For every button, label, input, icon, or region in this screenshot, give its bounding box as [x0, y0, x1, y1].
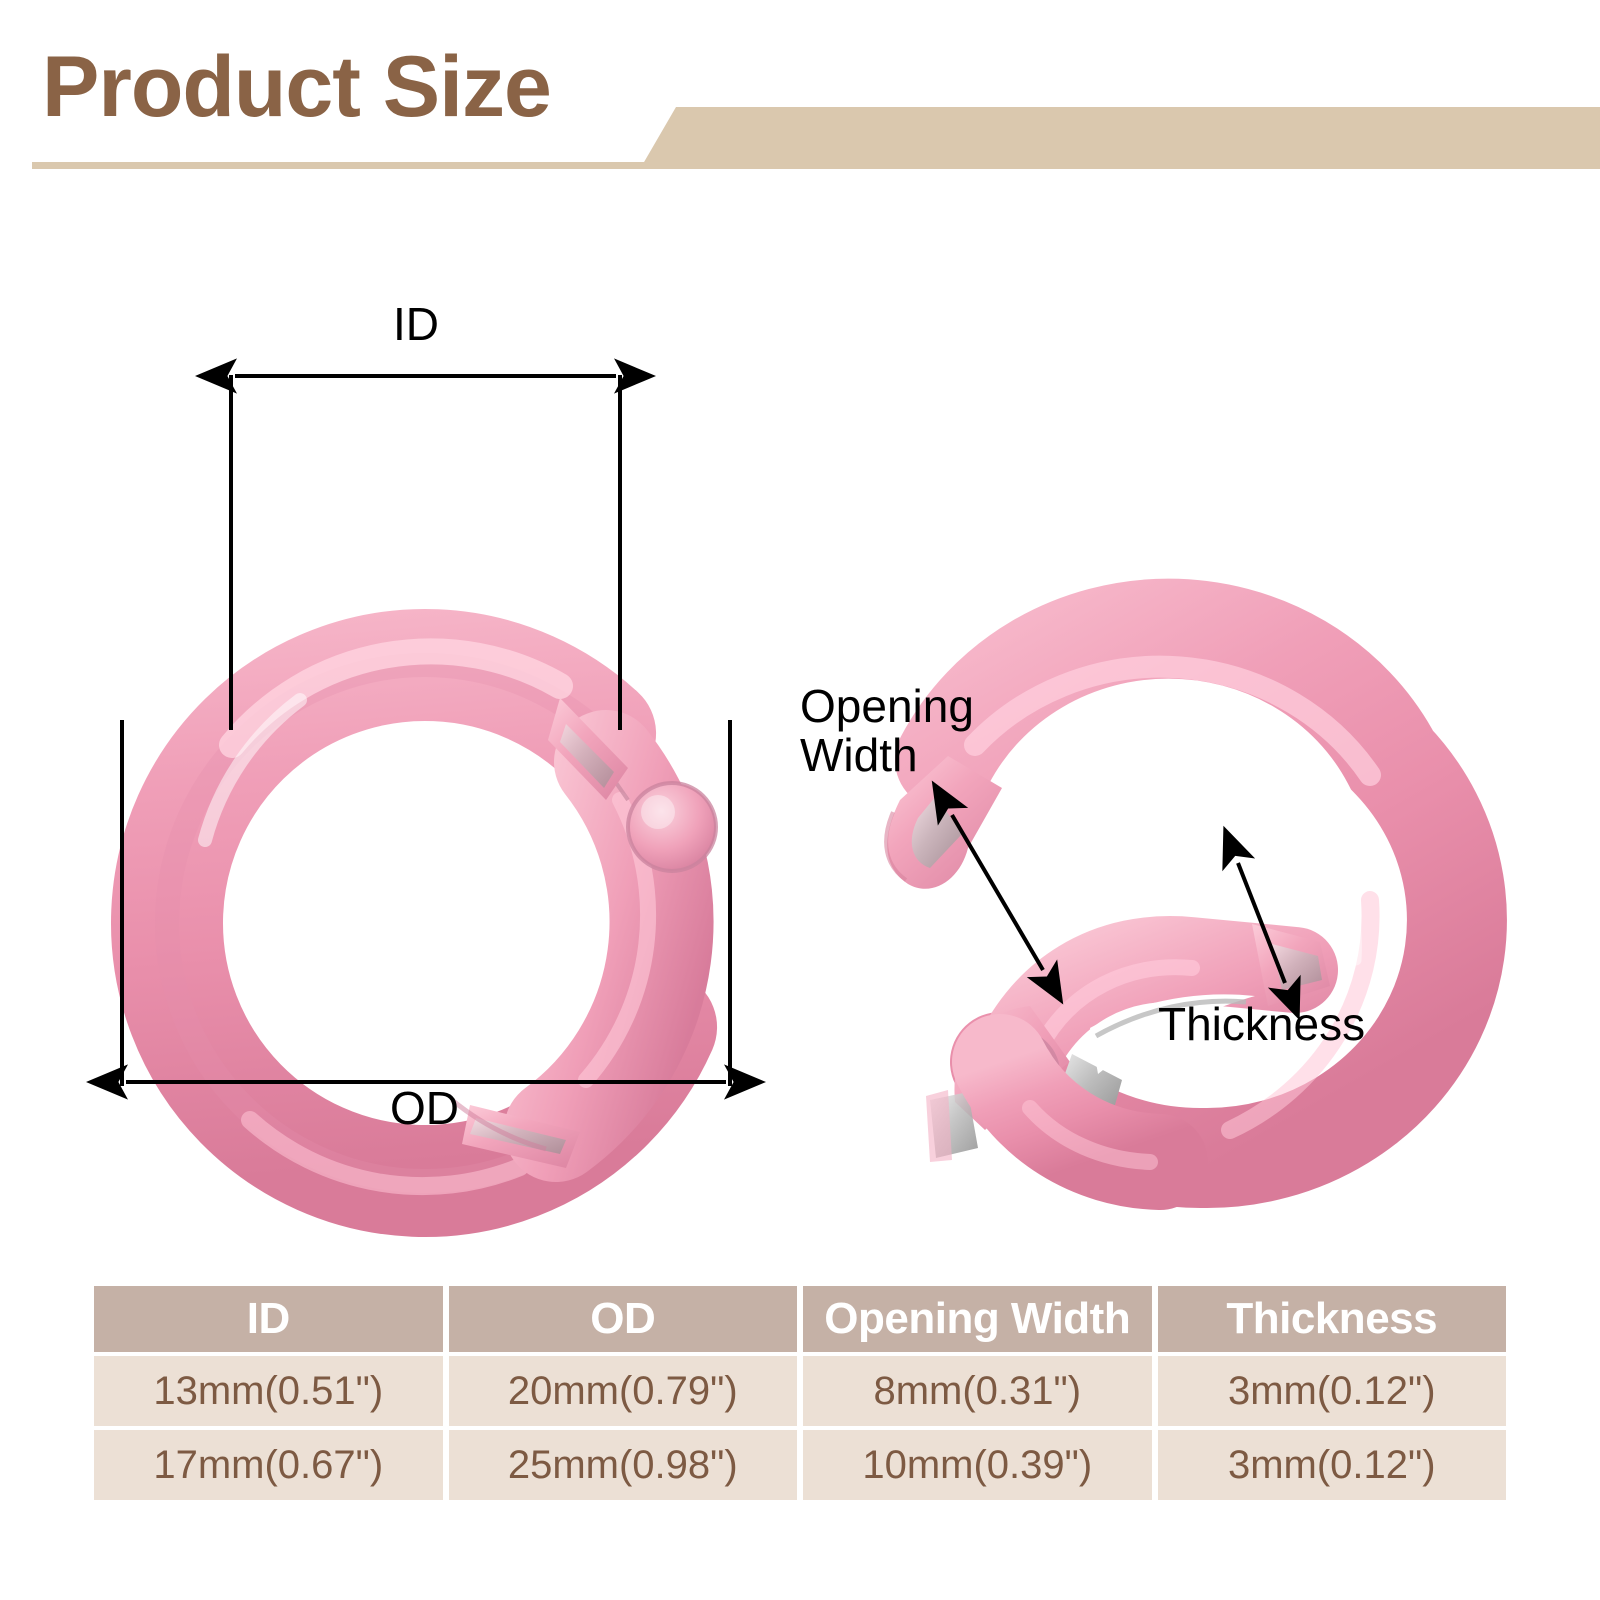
cell-opening-width: 8mm(0.31"): [803, 1356, 1152, 1426]
column-header-od: OD: [449, 1286, 798, 1352]
page-title: Product Size: [42, 44, 551, 130]
opening-width-label: Opening Width: [800, 682, 974, 780]
cell-od: 25mm(0.98"): [449, 1430, 798, 1500]
cell-opening-width: 10mm(0.39"): [803, 1430, 1152, 1500]
thickness-label: Thickness: [1158, 1000, 1365, 1049]
cell-thickness: 3mm(0.12"): [1158, 1356, 1507, 1426]
cell-thickness: 3mm(0.12"): [1158, 1430, 1507, 1500]
page-header: Product Size: [0, 0, 1600, 200]
header-banner-accent: [640, 107, 1600, 169]
table-header-row: ID OD Opening Width Thickness: [94, 1286, 1506, 1352]
table-row: 13mm(0.51") 20mm(0.79") 8mm(0.31") 3mm(0…: [94, 1356, 1506, 1426]
column-header-thickness: Thickness: [1158, 1286, 1507, 1352]
column-header-opening-width: Opening Width: [803, 1286, 1152, 1352]
cell-od: 20mm(0.79"): [449, 1356, 798, 1426]
od-label: OD: [390, 1084, 459, 1133]
cell-id: 13mm(0.51"): [94, 1356, 443, 1426]
cell-id: 17mm(0.67"): [94, 1430, 443, 1500]
opening-width-annotation: [952, 815, 1043, 970]
header-underline-rule: [32, 162, 692, 169]
column-header-id: ID: [94, 1286, 443, 1352]
id-label: ID: [393, 300, 439, 349]
product-diagram-area: ID OD Opening Width Thickness: [0, 200, 1600, 1240]
closed-ring-illustration: [84, 582, 765, 1240]
table-row: 17mm(0.67") 25mm(0.98") 10mm(0.39") 3mm(…: [94, 1430, 1506, 1500]
product-size-table: ID OD Opening Width Thickness 13mm(0.51"…: [88, 1282, 1512, 1504]
